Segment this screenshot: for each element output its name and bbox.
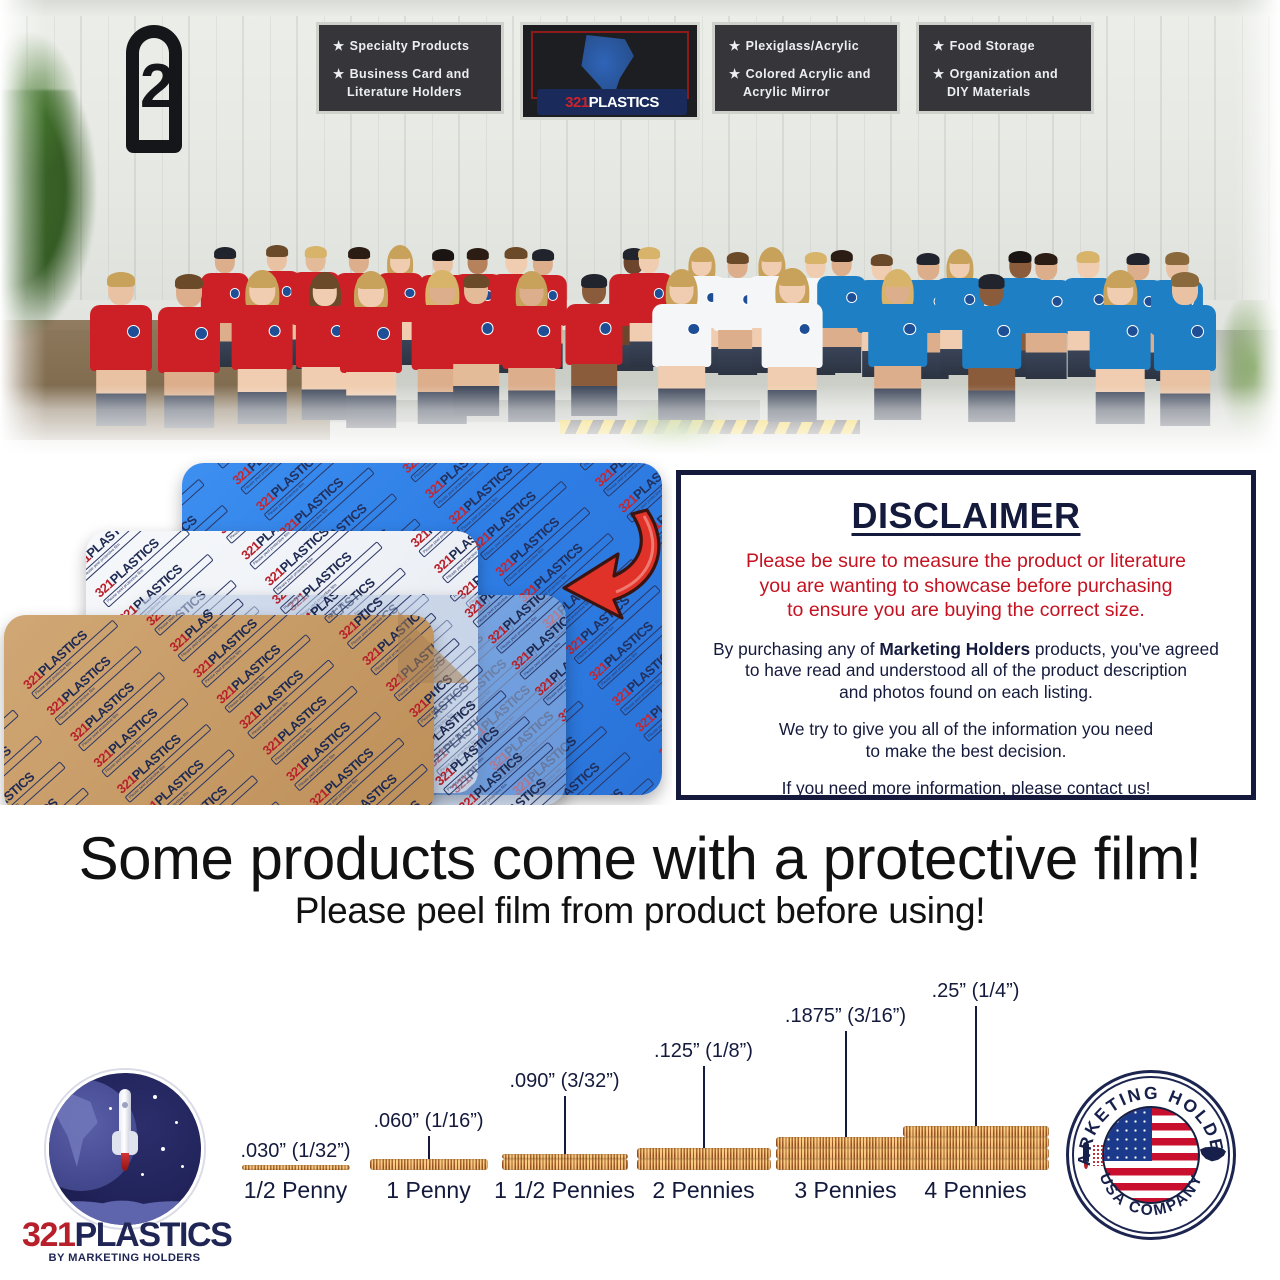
brand-name: Marketing Holders: [879, 639, 1030, 659]
photo-background: ★Specialty Products ★Business Card andLi…: [0, 0, 1280, 455]
svg-text:USA COMPANY: USA COMPANY: [1096, 1171, 1207, 1220]
penny-thickness-label: .25” (1/4”): [932, 980, 1020, 1003]
disclaimer-box: DISCLAIMER Please be sure to measure the…: [676, 470, 1256, 800]
penny-column: .060” (1/16”)1 Penny: [428, 960, 429, 1210]
employee-group: [0, 95, 1280, 425]
star-icon: [153, 1095, 157, 1099]
sign-line: Business Card and: [350, 67, 470, 81]
penny-thickness-label: .030” (1/32”): [240, 1140, 350, 1163]
star-bullet-icon: ★: [933, 39, 945, 53]
star-bullet-icon: ★: [729, 39, 741, 53]
body-text: products, you've agreed: [1030, 639, 1219, 659]
sign-line: Specialty Products: [350, 39, 470, 53]
star-icon: [181, 1165, 184, 1168]
badge-text-ring: MARKETING HOLDERS USA COMPANY: [1066, 1070, 1236, 1240]
penny-coin: [903, 1126, 1049, 1137]
body-text: By purchasing any of: [713, 639, 879, 659]
body-text: and photos found on each listing.: [839, 682, 1093, 702]
leader-line: [845, 1031, 847, 1137]
star-icon: [109, 1107, 112, 1110]
coin-stack: [637, 1148, 771, 1170]
sign-line: Organization and: [950, 67, 1059, 81]
star-bullet-icon: ★: [333, 67, 345, 81]
leader-line: [428, 1136, 430, 1159]
body-text: We try to give you all of the informatio…: [779, 719, 1153, 739]
rocket-icon: [112, 1089, 138, 1175]
sign-line: Food Storage: [950, 39, 1035, 53]
penny-coin: [502, 1154, 628, 1160]
disclaimer-warning: Please be sure to measure the product or…: [703, 549, 1229, 623]
kraft-corner-fold: [398, 611, 470, 683]
penny-coin: [903, 1159, 1049, 1170]
penny-thickness-label: .090” (3/32”): [509, 1070, 619, 1093]
penny-column: .125” (1/8”)2 Pennies: [703, 960, 704, 1210]
star-icon: [175, 1121, 178, 1124]
penny-coin: [637, 1159, 771, 1170]
leader-line: [564, 1096, 566, 1154]
leader-line: [703, 1066, 705, 1148]
logo-brand-text: 321PLASTICS: [22, 1218, 227, 1252]
penny-coin: [242, 1165, 350, 1171]
star-bullet-icon: ★: [333, 39, 345, 53]
disclaimer-body-3: If you need more information, please con…: [703, 778, 1229, 800]
penny-column: .030” (1/32”)1/2 Penny: [295, 960, 296, 1210]
warning-line: you are wanting to showcase before purch…: [759, 575, 1172, 597]
star-bullet-icon: ★: [729, 67, 741, 81]
page-title: Some products come with a protective fil…: [0, 824, 1280, 893]
coin-stack: [776, 1137, 916, 1170]
coin-stack: [502, 1154, 628, 1171]
penny-coin: [637, 1148, 771, 1159]
body-text: to have read and understood all of the p…: [745, 660, 1187, 680]
team-photo: ★Specialty Products ★Business Card andLi…: [0, 0, 1280, 455]
penny-coin: [776, 1148, 916, 1159]
star-icon: [141, 1173, 144, 1176]
penny-column: .1875” (3/16”)3 Pennies: [845, 960, 846, 1210]
logo-brand-word: PLASTICS: [75, 1216, 232, 1254]
flyer-page: ★Specialty Products ★Business Card andLi…: [0, 0, 1280, 1280]
penny-coin: [502, 1159, 628, 1170]
disclaimer-body-1: By purchasing any of Marketing Holders p…: [703, 639, 1229, 704]
photo-left-fade: [0, 0, 46, 455]
penny-column: .090” (3/32”)1 1/2 Pennies: [564, 960, 565, 1210]
penny-coin: [776, 1137, 916, 1148]
coin-stack: [903, 1126, 1049, 1170]
logo-marketing-holders[interactable]: MARKETING HOLDERS USA COMPANY: [1062, 1068, 1242, 1248]
star-bullet-icon: ★: [933, 67, 945, 81]
penny-count-label: 2 Pennies: [652, 1177, 754, 1204]
penny-count-label: 1 1/2 Pennies: [494, 1177, 635, 1204]
sign-line: Colored Acrylic and: [746, 67, 871, 81]
penny-count-label: 1/2 Penny: [244, 1177, 348, 1204]
logo-321-plastics[interactable]: 321PLASTICS BY MARKETING HOLDERS: [22, 1068, 227, 1248]
penny-coin: [370, 1159, 488, 1170]
coin-stack: [242, 1165, 350, 1171]
penny-thickness-label: .060” (1/16”): [373, 1110, 483, 1133]
film-sheet-kraft: 321PLASTICSPlease peel protective film32…: [4, 615, 434, 805]
penny-thickness-label: .125” (1/8”): [654, 1040, 753, 1063]
penny-count-label: 1 Penny: [386, 1177, 470, 1204]
photo-right-fade: [1234, 0, 1280, 455]
penny-thickness-label: .1875” (3/16”): [785, 1005, 906, 1028]
svg-text:MARKETING HOLDERS: MARKETING HOLDERS: [1066, 1070, 1228, 1166]
logo-space-scene-icon: [46, 1070, 204, 1228]
disclaimer-body-2: We try to give you all of the informatio…: [703, 719, 1229, 763]
film-watermark-pattern: 321PLASTICSPlease peel protective film32…: [4, 615, 434, 805]
penny-coin: [903, 1137, 1049, 1148]
leader-line: [975, 1006, 977, 1126]
warning-line: to ensure you are buying the correct siz…: [787, 599, 1145, 621]
star-icon: [161, 1147, 165, 1151]
logo-brand-num: 321: [22, 1216, 75, 1254]
logo-tagline: BY MARKETING HOLDERS: [22, 1252, 227, 1264]
coin-stack: [370, 1159, 488, 1170]
disclaimer-title: DISCLAIMER: [703, 495, 1229, 537]
penny-count-label: 4 Pennies: [924, 1177, 1026, 1204]
page-subtitle: Please peel film from product before usi…: [0, 890, 1280, 932]
photo-bottom-fade: [0, 385, 1280, 455]
body-text: to make the best decision.: [866, 741, 1067, 761]
penny-count-label: 3 Pennies: [794, 1177, 896, 1204]
peel-arrow-icon: [552, 492, 672, 624]
penny-coin: [903, 1148, 1049, 1159]
penny-coin: [776, 1159, 916, 1170]
warning-line: Please be sure to measure the product or…: [746, 550, 1186, 572]
wall-top-band: [0, 0, 1280, 16]
sign-line: Plexiglass/Acrylic: [746, 39, 860, 53]
penny-column: .25” (1/4”)4 Pennies: [975, 960, 976, 1210]
